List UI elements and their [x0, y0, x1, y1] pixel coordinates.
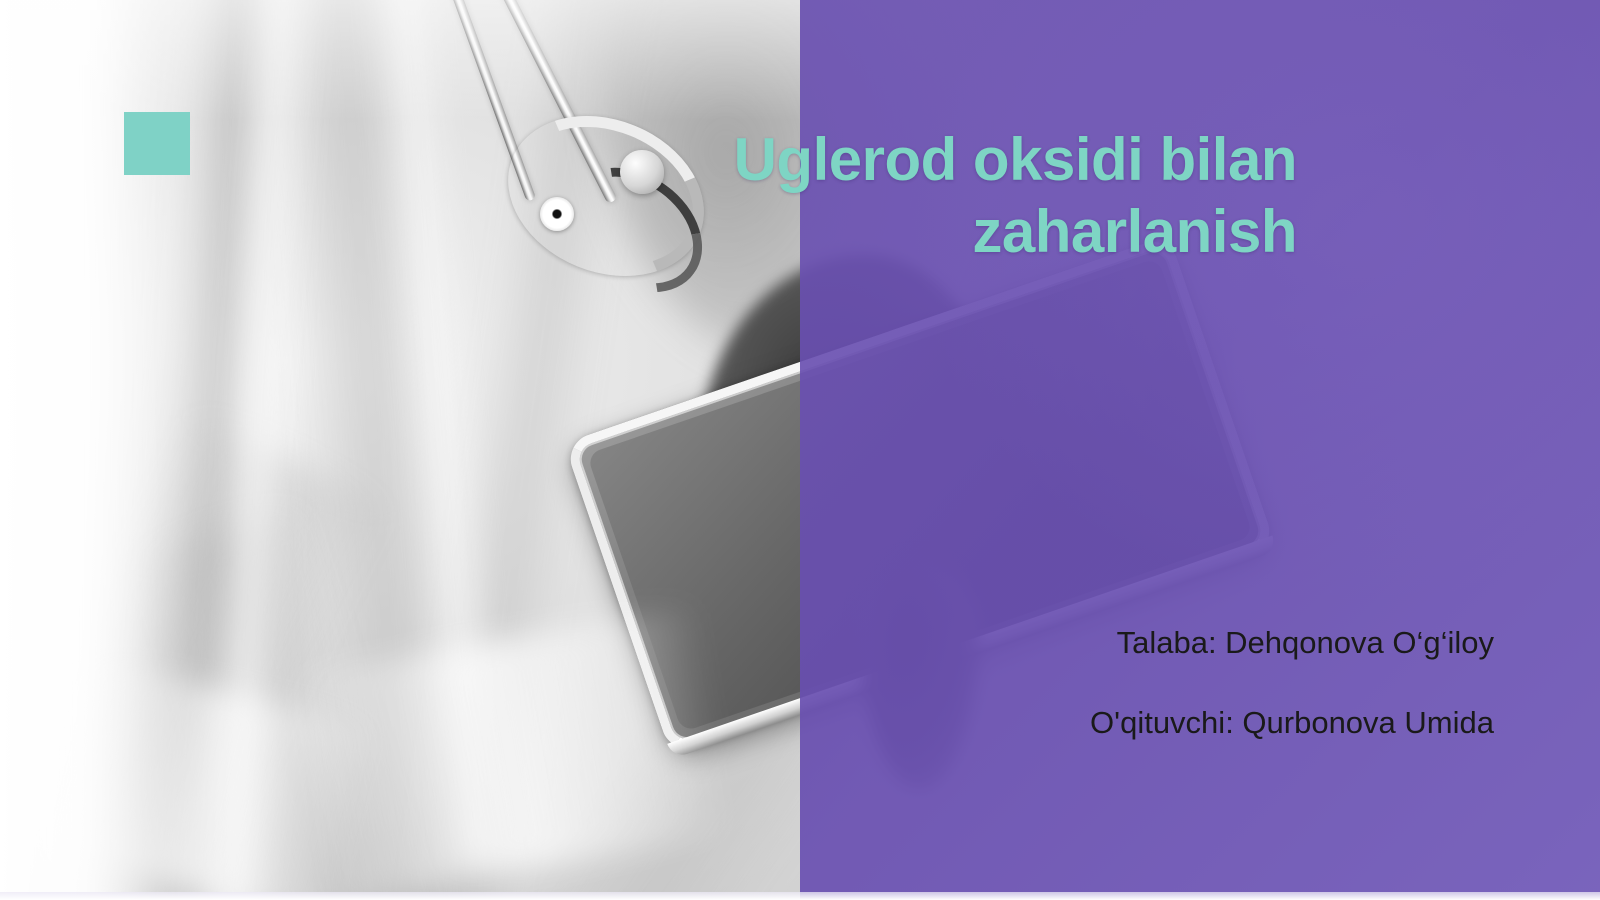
slide-title: Uglerod oksidi bilan zaharlanish — [700, 124, 1297, 268]
slide-subtitle: Talaba: Dehqonova O‘g‘iloy O'qituvchi: Q… — [980, 624, 1494, 742]
presentation-slide: Uglerod oksidi bilan zaharlanish Talaba:… — [0, 0, 1600, 900]
accent-square — [124, 112, 190, 175]
stethoscope-eyelet — [540, 197, 574, 231]
subtitle-line-student: Talaba: Dehqonova O‘g‘iloy — [980, 624, 1494, 662]
top-white-fade — [0, 0, 800, 120]
bottom-band — [0, 892, 1600, 900]
title-line-2: zaharlanish — [700, 196, 1297, 268]
title-line-1: Uglerod oksidi bilan — [700, 124, 1297, 196]
stethoscope-chestpiece — [620, 150, 664, 194]
subtitle-line-teacher: O'qituvchi: Qurbonova Umida — [980, 704, 1494, 742]
left-white-fade — [0, 0, 230, 900]
